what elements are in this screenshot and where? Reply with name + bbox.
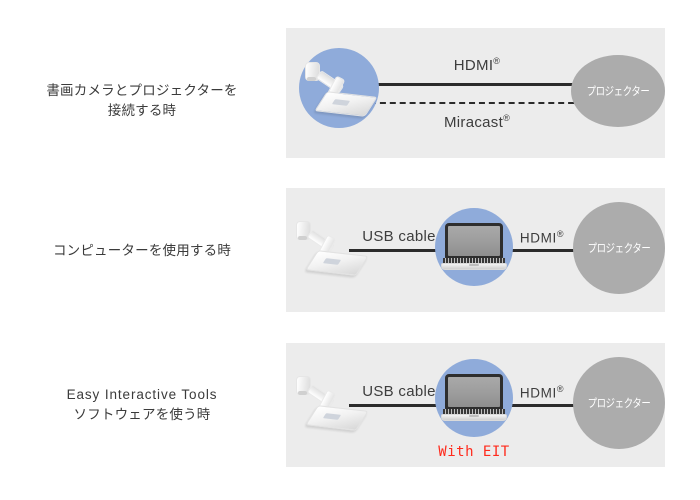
row-1-miracast-line <box>370 102 584 104</box>
doccam-lens <box>307 77 316 81</box>
document-camera-icon <box>303 54 377 120</box>
laptop-trackpad <box>469 415 479 417</box>
laptop-lid <box>445 223 503 259</box>
row-3-usb-label-text: USB cable <box>362 383 436 400</box>
laptop-trackpad <box>469 264 479 266</box>
row-2-hdmi-label: HDMI® <box>504 229 580 246</box>
diagram-row-3: Easy Interactive Tools ソフトウェアを使う時 USB ca… <box>0 343 700 467</box>
row-1-projector-label: プロジェクター <box>579 83 656 99</box>
row-2-label-line-1: コンピューターを使用する時 <box>8 241 276 261</box>
row-1-label-line-2: 接続する時 <box>8 101 276 121</box>
doccam-lens <box>298 236 307 240</box>
diagram-row-1: 書画カメラとプロジェクターを 接続する時 HDMI® Miracast® <box>0 28 700 158</box>
laptop-screen <box>448 226 500 256</box>
row-2-hdmi-line <box>508 249 576 252</box>
connection-diagram: 書画カメラとプロジェクターを 接続する時 HDMI® Miracast® <box>0 0 700 500</box>
row-3-panel: USB cable HDMI® <box>286 343 665 467</box>
row-2-hdmi-superscript: ® <box>557 229 564 239</box>
laptop-icon <box>441 374 507 422</box>
row-3-projector-circle: プロジェクター <box>573 357 665 449</box>
row-3-hdmi-superscript: ® <box>557 384 564 394</box>
row-3-label: Easy Interactive Tools ソフトウェアを使う時 <box>8 385 276 424</box>
row-3-label-line-1: Easy Interactive Tools <box>8 385 276 405</box>
laptop-lid <box>445 374 503 410</box>
row-1-hdmi-superscript: ® <box>493 56 500 66</box>
row-2-document-camera-icon <box>294 213 368 279</box>
row-2-projector-label: プロジェクター <box>581 240 656 256</box>
row-3-hdmi-label-text: HDMI <box>520 386 557 401</box>
laptop-screen <box>448 377 500 407</box>
row-2-computer-circle <box>435 208 513 286</box>
row-1-miracast-label: Miracast® <box>374 113 580 131</box>
laptop-icon <box>441 223 507 271</box>
row-1-miracast-superscript: ® <box>503 113 510 123</box>
row-1-projector-circle: プロジェクター <box>571 55 665 127</box>
row-2-usb-label-text: USB cable <box>362 228 436 245</box>
row-3-hdmi-label: HDMI® <box>504 384 580 401</box>
row-2-hdmi-label-text: HDMI <box>520 231 557 246</box>
row-3-label-line-2: ソフトウェアを使う時 <box>8 405 276 425</box>
row-3-eit-caption: With EIT <box>423 444 525 460</box>
row-3-computer-circle <box>435 359 513 437</box>
diagram-row-2: コンピューターを使用する時 USB cable HDMI® <box>0 188 700 312</box>
row-2-projector-circle: プロジェクター <box>573 202 665 294</box>
row-1-miracast-label-text: Miracast <box>444 114 503 131</box>
row-1-label: 書画カメラとプロジェクターを 接続する時 <box>8 81 276 120</box>
row-1-hdmi-line <box>370 83 584 86</box>
row-3-projector-label: プロジェクター <box>581 395 656 411</box>
row-2-label: コンピューターを使用する時 <box>8 241 276 261</box>
doccam-lens <box>298 391 307 395</box>
row-1-label-line-1: 書画カメラとプロジェクターを <box>8 81 276 101</box>
row-3-document-camera-icon <box>294 368 368 434</box>
row-1-hdmi-label: HDMI® <box>374 56 580 74</box>
row-2-panel: USB cable HDMI® <box>286 188 665 312</box>
row-3-hdmi-line <box>508 404 576 407</box>
row-1-panel: HDMI® Miracast® プロジェクター <box>286 28 665 158</box>
row-1-document-camera-circle <box>299 48 379 128</box>
row-1-hdmi-label-text: HDMI <box>454 57 494 74</box>
